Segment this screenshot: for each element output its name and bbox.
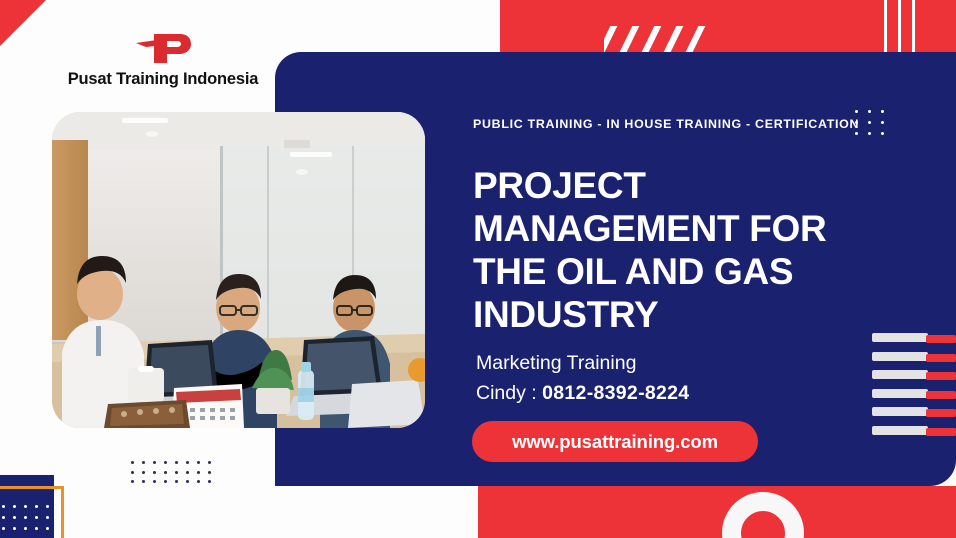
stripe-decoration	[872, 333, 956, 445]
bottom-dot	[131, 461, 134, 464]
stripe-light-segment	[872, 352, 928, 361]
stripe-red-segment	[926, 335, 956, 343]
promotional-banner: Pusat Training Indonesia	[0, 0, 956, 538]
slash-mark-3	[662, 26, 686, 52]
bottom-dot	[186, 471, 189, 474]
stripe-red-segment	[926, 428, 956, 436]
contact-info: Cindy : 0812-8392-8224	[476, 382, 689, 405]
header-dot-grid	[855, 110, 891, 136]
stripe-red-segment	[926, 391, 956, 399]
website-cta-label: www.pusattraining.com	[512, 431, 718, 453]
bottom-dot-grid	[131, 461, 211, 485]
bottom-dot	[197, 461, 200, 464]
stripe-light-segment	[872, 426, 928, 435]
page-title: PROJECT MANAGEMENT FOR THE OIL AND GAS I…	[473, 164, 873, 336]
stripe-row-5	[872, 426, 956, 435]
stylized-p-swoosh-icon	[134, 30, 192, 64]
bottom-dot	[164, 471, 167, 474]
stripe-light-segment	[872, 389, 928, 398]
bottom-dot	[186, 461, 189, 464]
contact-phone: 0812-8392-8224	[542, 382, 689, 404]
contact-label: Cindy :	[476, 382, 542, 404]
header-dot	[868, 110, 871, 113]
header-dot	[855, 110, 858, 113]
subtitle-text: Marketing Training	[476, 352, 636, 375]
vertical-line-0	[884, 0, 887, 52]
slash-mark-1	[618, 26, 642, 52]
header-dot	[868, 121, 871, 124]
stripe-light-segment	[872, 333, 928, 342]
slash-mark-4	[684, 26, 708, 52]
header-dot	[881, 110, 884, 113]
top-left-red-triangle	[0, 0, 46, 46]
bottom-dot	[175, 480, 178, 483]
stripe-light-segment	[872, 407, 928, 416]
kicker-text: PUBLIC TRAINING - IN HOUSE TRAINING - CE…	[473, 117, 859, 131]
stripe-row-3	[872, 389, 956, 398]
brand-logo-block: Pusat Training Indonesia	[58, 30, 268, 89]
bottom-dot	[142, 471, 145, 474]
vertical-line-2	[912, 0, 915, 52]
bottom-dot	[142, 461, 145, 464]
bottom-dot	[197, 480, 200, 483]
bottom-dot	[208, 480, 211, 483]
vertical-line-decoration	[884, 0, 924, 52]
stripe-red-segment	[926, 354, 956, 362]
header-dot	[855, 121, 858, 124]
stripe-row-1	[872, 352, 956, 361]
stripe-row-4	[872, 407, 956, 416]
header-dot	[881, 121, 884, 124]
bottom-dot	[131, 480, 134, 483]
bottom-dot	[175, 461, 178, 464]
vertical-line-1	[898, 0, 901, 52]
bottom-dot	[153, 461, 156, 464]
bottom-dot	[208, 471, 211, 474]
stripe-red-segment	[926, 409, 956, 417]
header-dot	[868, 132, 871, 135]
bottom-dot	[197, 471, 200, 474]
bottom-dot	[153, 480, 156, 483]
stripe-row-0	[872, 333, 956, 342]
bottom-dot	[164, 480, 167, 483]
brand-name: Pusat Training Indonesia	[58, 70, 268, 89]
bottom-dot	[186, 480, 189, 483]
bottom-dot	[142, 480, 145, 483]
bottom-left-orange-outline	[0, 486, 64, 538]
bottom-dot	[164, 461, 167, 464]
slash-mark-2	[640, 26, 664, 52]
header-dot	[855, 132, 858, 135]
stripe-row-2	[872, 370, 956, 379]
stripe-light-segment	[872, 370, 928, 379]
bottom-dot	[131, 471, 134, 474]
bottom-red-band	[478, 486, 956, 538]
slash-mark-0	[604, 26, 619, 52]
bottom-dot	[153, 471, 156, 474]
bottom-dot	[208, 461, 211, 464]
header-dot	[881, 132, 884, 135]
meeting-photo	[52, 112, 425, 428]
diagonal-slash-decoration	[604, 26, 724, 52]
bottom-dot	[175, 471, 178, 474]
website-cta-button[interactable]: www.pusattraining.com	[472, 421, 758, 462]
stripe-red-segment	[926, 372, 956, 380]
